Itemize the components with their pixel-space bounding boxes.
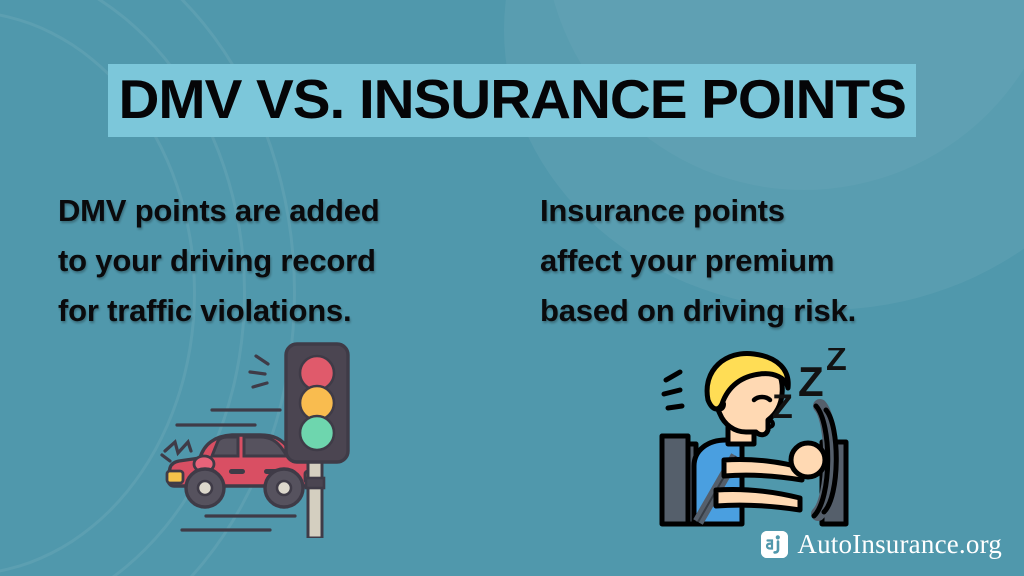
drowsy-driver-illustration: Z Z Z	[650, 348, 870, 534]
dmv-line-2: to your driving record	[58, 236, 498, 286]
dmv-description: DMV points are added to your driving rec…	[58, 186, 498, 337]
signal-green-light	[300, 416, 334, 450]
infographic-canvas: DMV VS. INSURANCE POINTS DMV points are …	[0, 0, 1024, 576]
insurance-line-2: affect your premium	[540, 236, 980, 286]
sleep-z-small: Z	[772, 388, 793, 426]
traffic-light-housing	[286, 344, 348, 462]
site-logo[interactable]: AutoInsurance.org	[761, 529, 1002, 560]
sleep-z-medium: Z	[798, 358, 824, 405]
impact-burst	[162, 442, 191, 461]
sleep-z-large: Z	[826, 348, 847, 378]
column-dmv: DMV points are added to your driving rec…	[58, 186, 498, 337]
nod-motion-lines	[664, 372, 682, 408]
insurance-description: Insurance points affect your premium bas…	[540, 186, 980, 337]
traffic-light-car-illustration	[160, 338, 370, 538]
signal-flash-lines	[250, 356, 268, 387]
insurance-line-1: Insurance points	[540, 186, 980, 236]
traffic-light-pole	[306, 456, 324, 538]
page-title: DMV VS. INSURANCE POINTS	[118, 73, 905, 125]
aj-monogram-icon	[761, 531, 788, 558]
title-highlight-band: DMV VS. INSURANCE POINTS	[108, 64, 916, 137]
column-insurance: Insurance points affect your premium bas…	[540, 186, 980, 337]
car-seat	[662, 436, 696, 524]
title-container: DMV VS. INSURANCE POINTS	[0, 64, 1024, 137]
insurance-line-3: based on driving risk.	[540, 286, 980, 336]
dmv-line-1: DMV points are added	[58, 186, 498, 236]
logo-wordmark: AutoInsurance.org	[797, 529, 1002, 560]
dmv-line-3: for traffic violations.	[58, 286, 498, 336]
wheel-hub	[791, 443, 825, 477]
